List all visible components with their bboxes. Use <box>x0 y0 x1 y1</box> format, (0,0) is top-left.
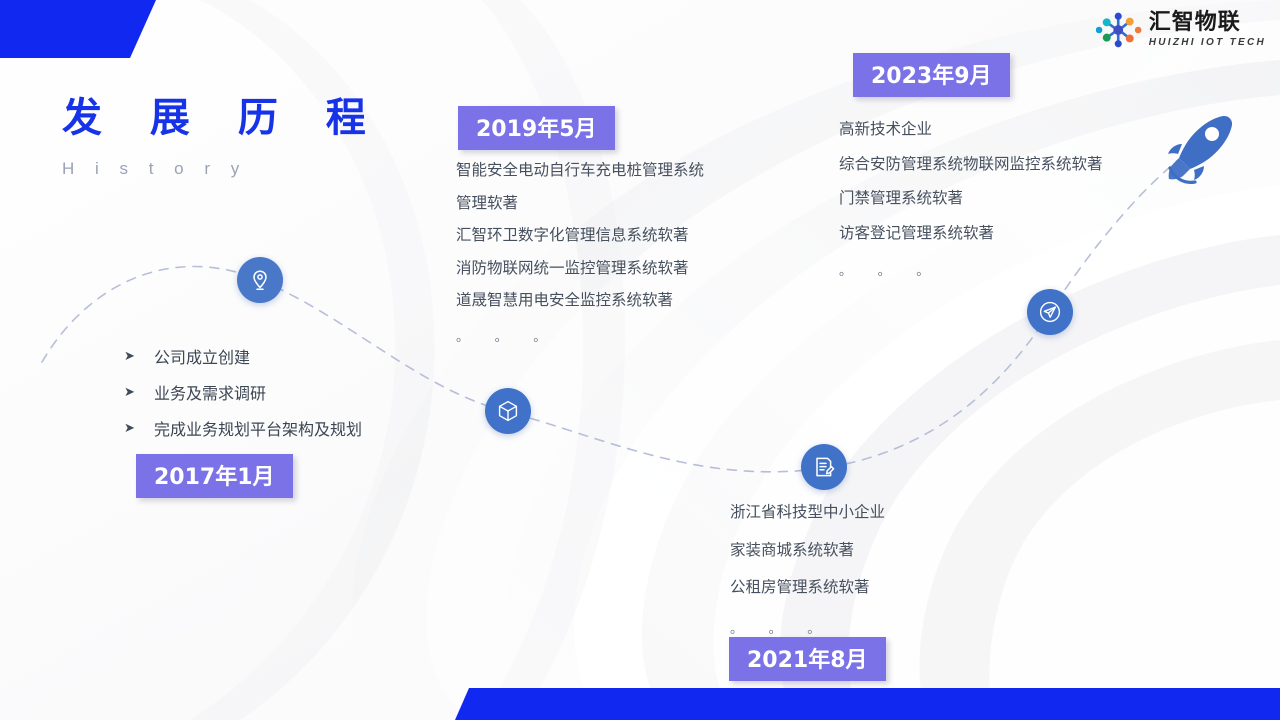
content-line: 公租房管理系统软著 <box>730 580 885 596</box>
cube-box-icon <box>496 399 520 423</box>
timeline-content-2021: 浙江省科技型中小企业 家装商城系统软著 公租房管理系统软著 。 。 。 <box>730 505 885 637</box>
list-item-label: 完成业务规划平台架构及规划 <box>154 416 362 440</box>
ellipsis-marker: 。 。 。 <box>839 260 1103 279</box>
paper-plane-icon <box>1037 299 1063 325</box>
bullet-arrow-icon: ➤ <box>124 349 136 364</box>
content-line: 智能安全电动自行车充电桩管理系统 <box>456 163 704 179</box>
date-badge-2019[interactable]: 2019年5月 <box>458 106 615 150</box>
date-badge-2021[interactable]: 2021年8月 <box>729 637 886 681</box>
content-line: 管理软著 <box>456 196 704 212</box>
date-badge-2023[interactable]: 2023年9月 <box>853 53 1010 97</box>
ellipsis-marker: 。 。 。 <box>730 618 885 637</box>
date-badge-2017[interactable]: 2017年1月 <box>136 454 293 498</box>
list-item: ➤ 业务及需求调研 <box>124 380 362 404</box>
timeline-node-2023[interactable] <box>1027 289 1073 335</box>
document-edit-icon <box>812 455 836 479</box>
content-line: 访客登记管理系统软著 <box>839 226 1103 242</box>
rocket-icon <box>1160 108 1240 188</box>
content-line: 浙江省科技型中小企业 <box>730 505 885 521</box>
location-pin-icon <box>248 268 272 292</box>
timeline-content-2017: ➤ 公司成立创建 ➤ 业务及需求调研 ➤ 完成业务规划平台架构及规划 <box>124 344 362 452</box>
timeline-node-2021[interactable] <box>801 444 847 490</box>
bullet-arrow-icon: ➤ <box>124 421 136 436</box>
content-line: 门禁管理系统软著 <box>839 191 1103 207</box>
ellipsis-marker: 。 。 。 <box>456 326 704 345</box>
slide-canvas: 汇智物联 HUIZHI IOT TECH 发 展 历 程 H i s t o r… <box>0 0 1280 720</box>
content-line: 高新技术企业 <box>839 122 1103 138</box>
content-line: 道晟智慧用电安全监控系统软著 <box>456 293 704 309</box>
list-item: ➤ 公司成立创建 <box>124 344 362 368</box>
timeline-node-2017[interactable] <box>237 257 283 303</box>
list-item-label: 业务及需求调研 <box>154 380 266 404</box>
content-line: 家装商城系统软著 <box>730 543 885 559</box>
content-line: 综合安防管理系统物联网监控系统软著 <box>839 157 1103 173</box>
bullet-arrow-icon: ➤ <box>124 385 136 400</box>
content-line: 消防物联网统一监控管理系统软著 <box>456 261 704 277</box>
timeline-content-2023: 高新技术企业 综合安防管理系统物联网监控系统软著 门禁管理系统软著 访客登记管理… <box>839 122 1103 279</box>
content-line: 汇智环卫数字化管理信息系统软著 <box>456 228 704 244</box>
timeline-content-2019: 智能安全电动自行车充电桩管理系统 管理软著 汇智环卫数字化管理信息系统软著 消防… <box>456 163 704 345</box>
timeline-node-2019[interactable] <box>485 388 531 434</box>
list-item: ➤ 完成业务规划平台架构及规划 <box>124 416 362 440</box>
list-item-label: 公司成立创建 <box>154 344 250 368</box>
